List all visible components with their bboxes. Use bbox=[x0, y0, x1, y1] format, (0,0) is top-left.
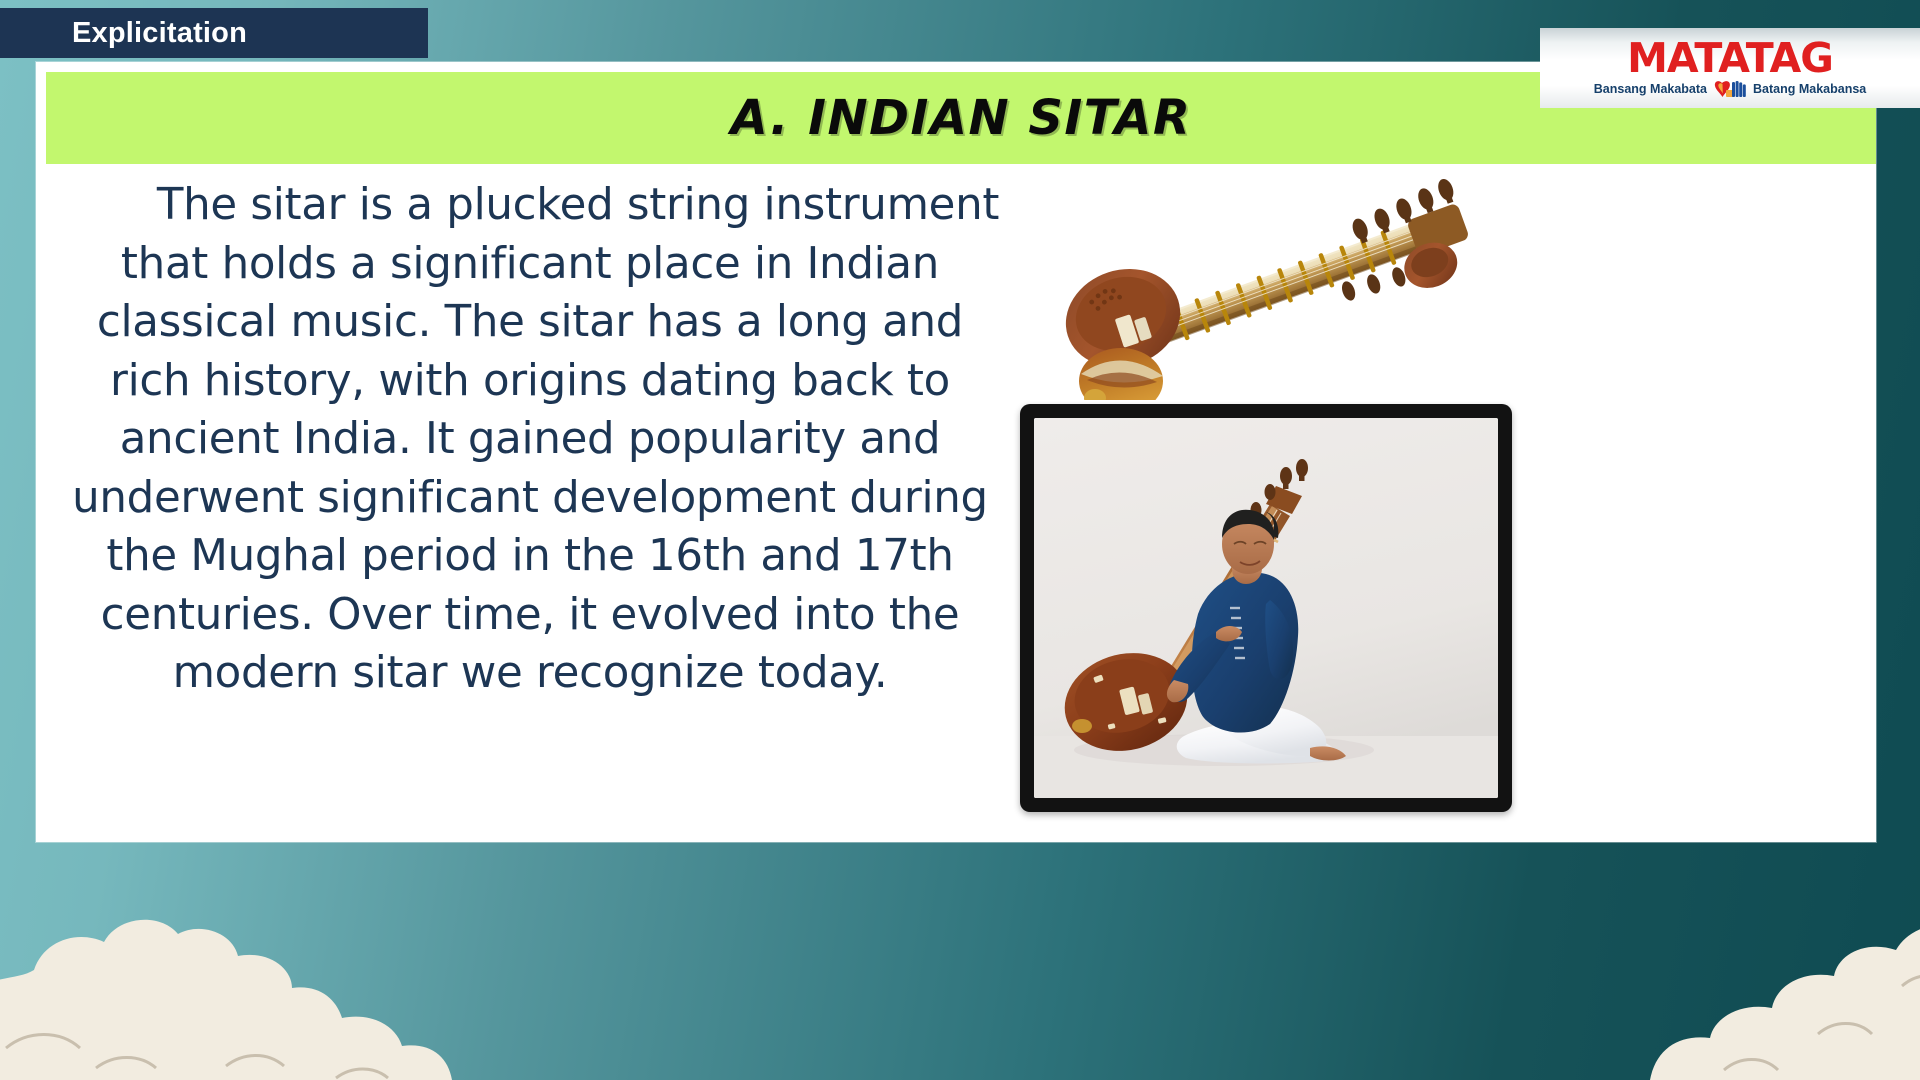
man-playing-sitar-photo bbox=[1034, 418, 1498, 798]
page-title: A. INDIAN SITAR bbox=[731, 90, 1192, 146]
matatag-tagline: Bansang Makabata Batang Makabansa bbox=[1594, 79, 1866, 99]
section-tab: Explicitation bbox=[0, 8, 428, 58]
matatag-logo: MATATAG Bansang Makabata Batang Makabans… bbox=[1540, 28, 1920, 108]
body-paragraph: The sitar is a plucked string instrument… bbox=[60, 176, 1000, 703]
tagline-left-text: Bansang Makabata bbox=[1594, 82, 1707, 96]
framed-photo bbox=[1020, 404, 1512, 812]
heart-hand-icon bbox=[1713, 79, 1747, 99]
slide-canvas: A. INDIAN SITAR Explicitation MATATAG Ba… bbox=[0, 0, 1920, 1080]
indian-sitar-instrument-photo bbox=[1035, 168, 1495, 400]
cloud-decoration-right bbox=[1650, 924, 1920, 1080]
tagline-right-text: Batang Makabansa bbox=[1753, 82, 1866, 96]
matatag-brand-text: MATATAG bbox=[1627, 39, 1833, 78]
cloud-decoration-left bbox=[0, 920, 452, 1080]
section-tab-label: Explicitation bbox=[0, 17, 247, 50]
